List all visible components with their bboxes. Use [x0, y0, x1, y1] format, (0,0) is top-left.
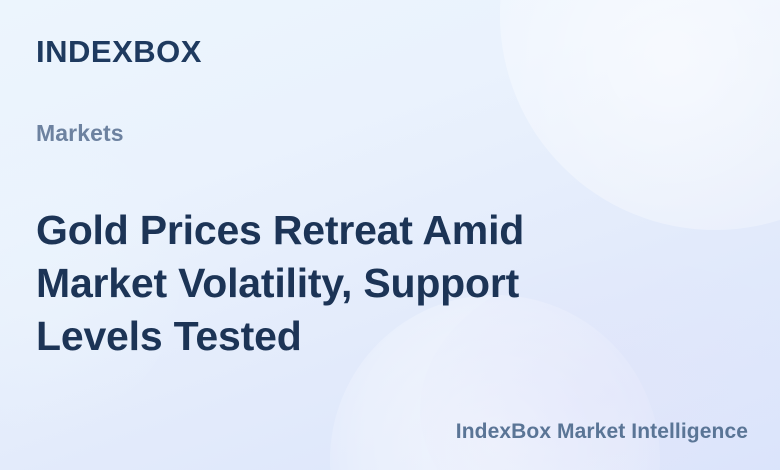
card-content: INDEXBOX Markets Gold Prices Retreat Ami… [0, 0, 780, 470]
headline-line-3: Levels Tested [36, 310, 696, 363]
brand-logo[interactable]: INDEXBOX [36, 36, 202, 67]
page-title: Gold Prices Retreat Amid Market Volatili… [36, 204, 696, 363]
attribution-label: IndexBox Market Intelligence [456, 421, 748, 442]
headline-line-2: Market Volatility, Support [36, 257, 696, 310]
article-share-card: INDEXBOX Markets Gold Prices Retreat Ami… [0, 0, 780, 470]
category-kicker[interactable]: Markets [36, 122, 124, 145]
headline-line-1: Gold Prices Retreat Amid [36, 204, 696, 257]
